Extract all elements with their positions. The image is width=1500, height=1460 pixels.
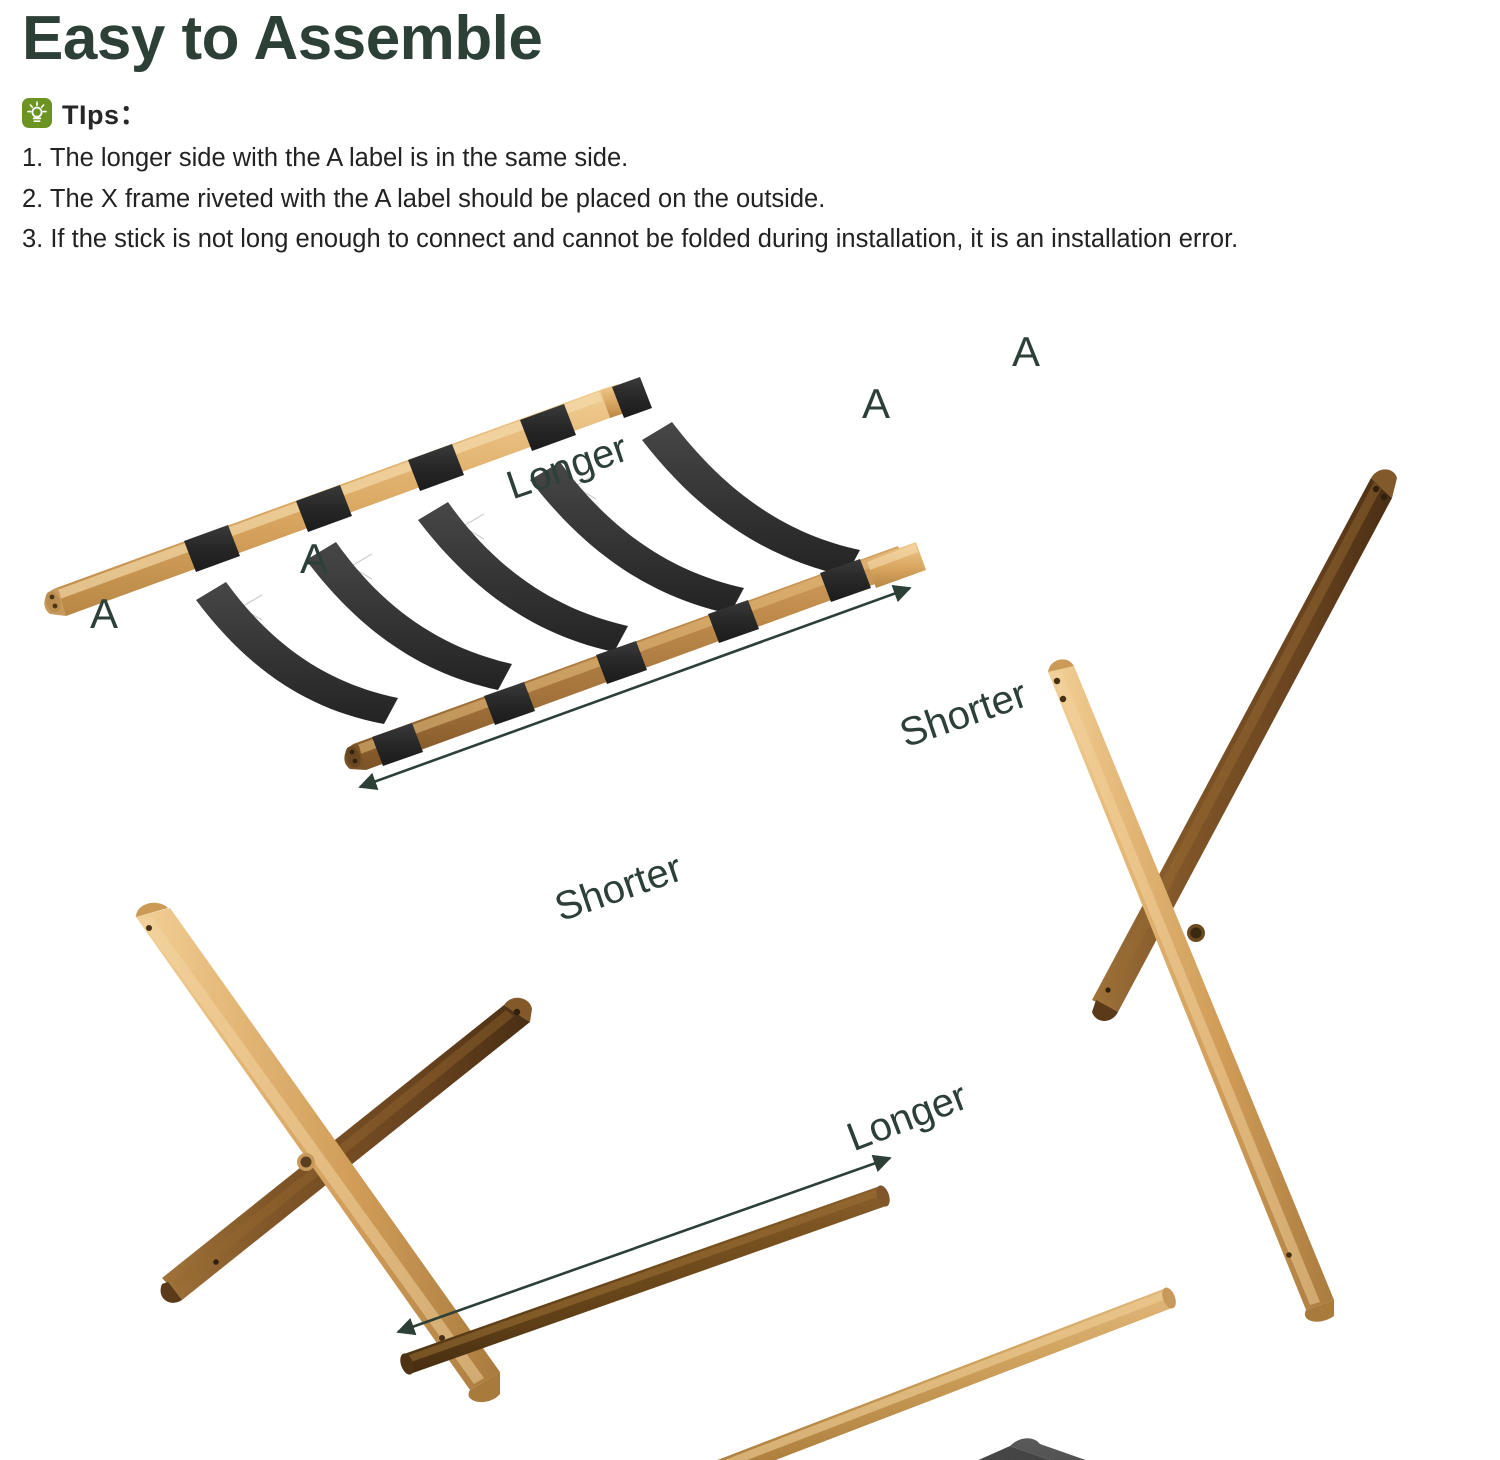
tips-header: TIps： [22,93,1488,132]
shorter-dowel-arrow [398,1158,890,1332]
assembly-diagram-svg [0,300,1500,1460]
tips-label: TIps： [62,93,147,132]
page-title: Easy to Assemble [22,6,1488,71]
header: Easy to Assemble TIps： 1. The longe [18,0,1488,257]
shorter-dowel [398,1184,893,1377]
lightbulb-icon [22,98,52,128]
assembly-diagram: A A A A Longer Shorter Shorter Longer [0,300,1500,1460]
x-frame-right-dark-leg [1092,469,1397,1021]
x-frame-left-light-leg [136,903,500,1402]
tip-line-2: 2. The X frame riveted with the A label … [22,183,1488,217]
strap [642,422,860,576]
x-frame-left-dark-leg [161,998,532,1303]
strap-panel-assembly [43,377,926,770]
x-frame-left [136,903,532,1402]
fabric-sleeve-top [1010,1438,1384,1460]
strap-group [196,422,860,724]
shorter-rack-arrow [360,588,910,787]
rivet-core [301,1157,312,1168]
rivet-core [1191,928,1202,939]
tips-list: 1. The longer side with the A label is i… [18,142,1488,257]
x-frame-right-light-leg [1048,659,1334,1321]
longer-dowel [627,1286,1178,1460]
x-frame-right [1048,469,1397,1321]
tip-line-1: 1. The longer side with the A label is i… [22,142,1488,176]
tip-line-3: 3. If the stick is not long enough to co… [22,223,1488,257]
